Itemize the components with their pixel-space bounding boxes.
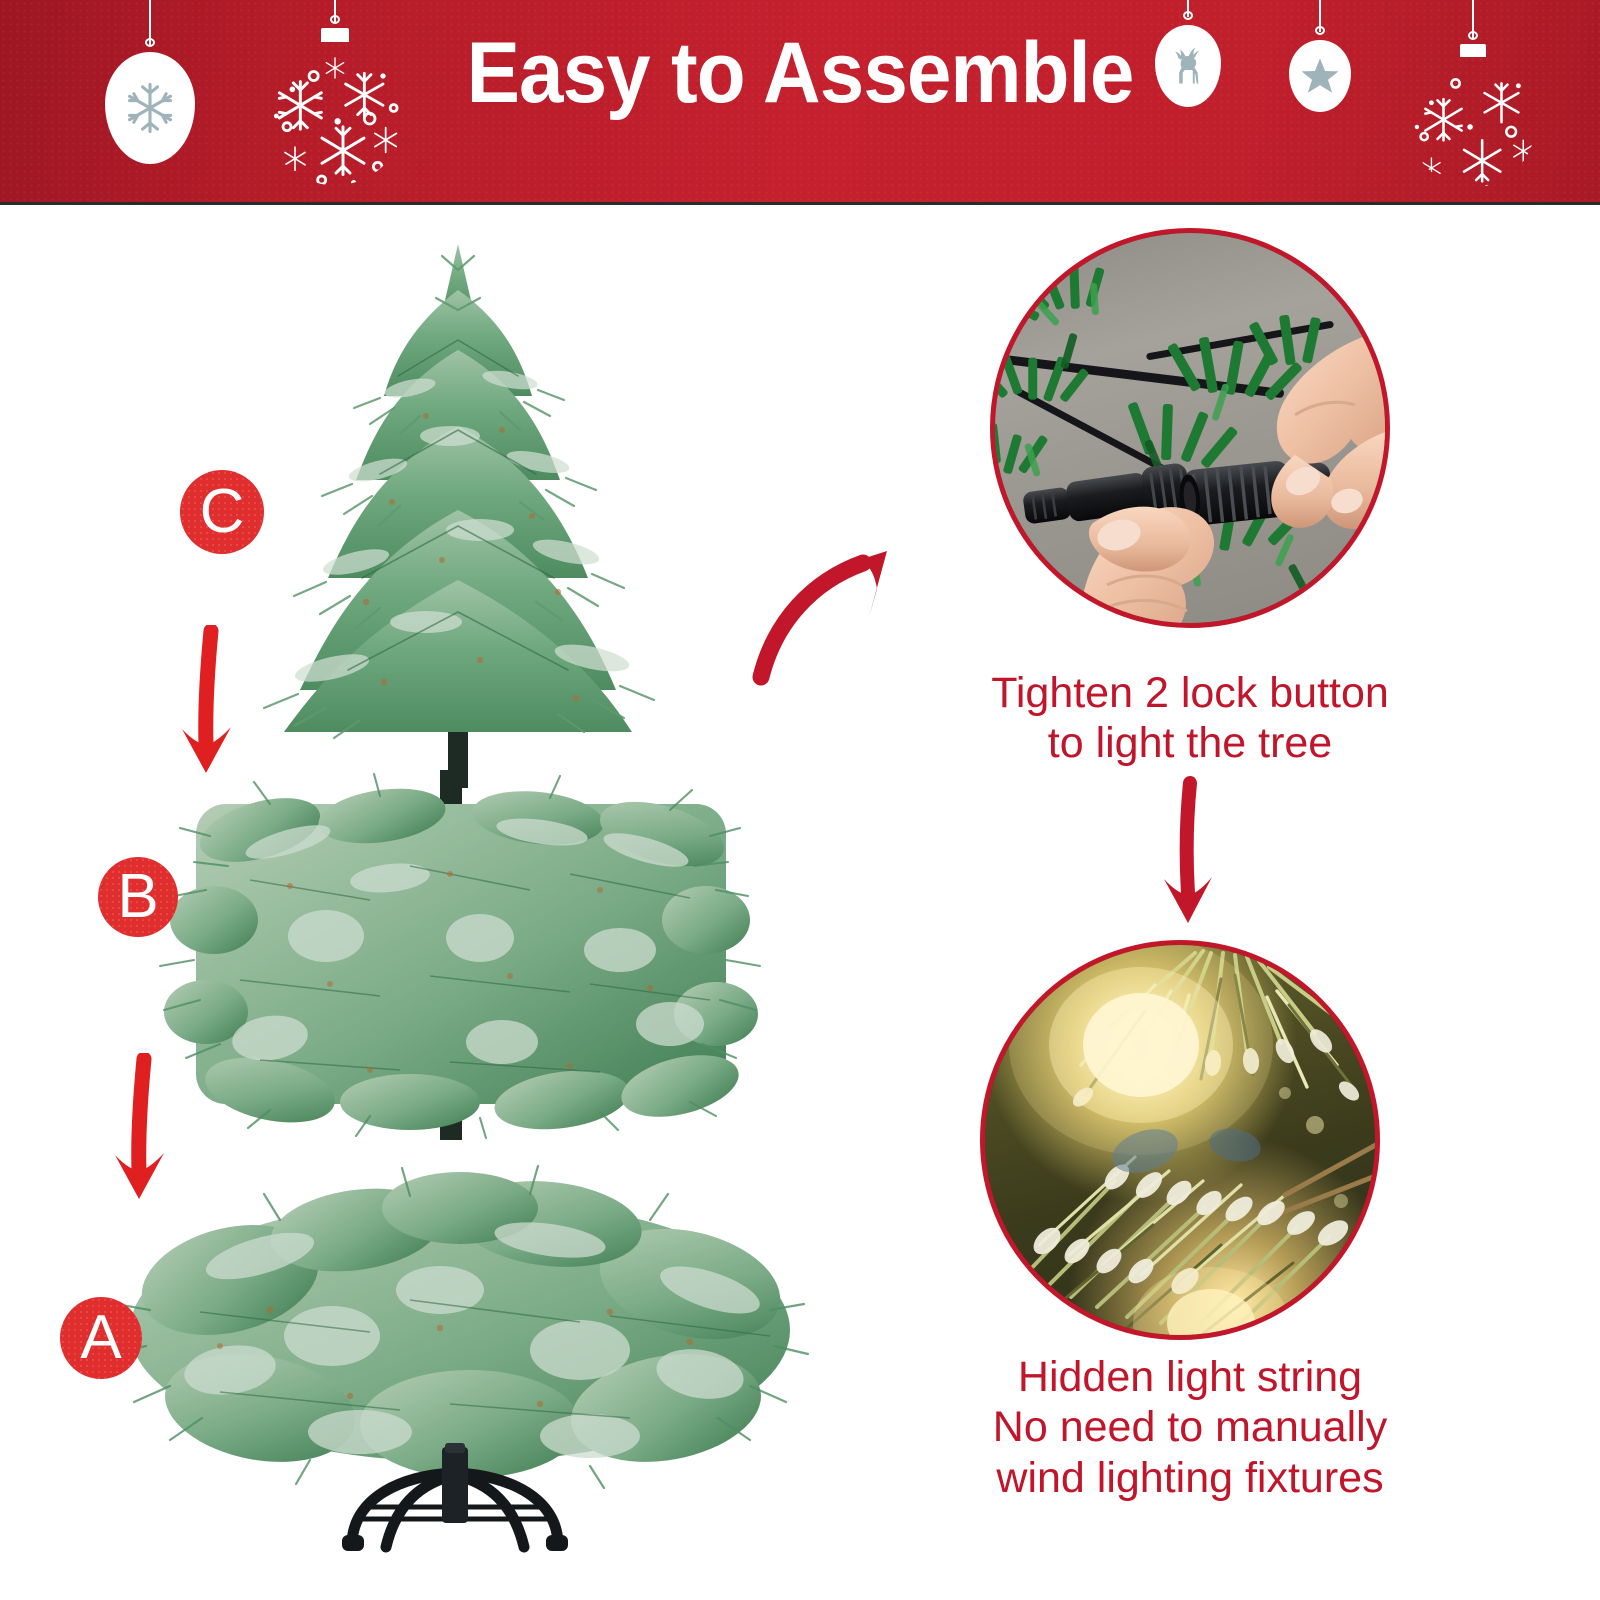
lights-caption-line3: wind lighting fixtures: [930, 1453, 1450, 1503]
light-bulb-glow: [1009, 945, 1348, 1340]
step-badge-c-label: C: [200, 481, 245, 543]
tree-stand: [300, 1435, 610, 1565]
step-badge-b-label: B: [117, 866, 158, 928]
header-banner: Easy to Assemble: [0, 0, 1600, 205]
step-badge-a: A: [60, 1297, 142, 1379]
lit-pine-needles: [985, 945, 1380, 1340]
ornament-cap-icon: [330, 15, 340, 24]
lit-branch-photo: [980, 940, 1380, 1340]
connector-caption-line2: to light the tree: [940, 718, 1440, 768]
hands: [995, 233, 1390, 628]
tree-section-top: [180, 230, 740, 790]
step-badge-b: B: [98, 857, 178, 937]
arrow-c-to-b: [165, 625, 255, 795]
step-badge-c: C: [180, 470, 264, 554]
lights-caption: Hidden light string No need to manually …: [930, 1352, 1450, 1503]
tree-section-middle: [150, 770, 770, 1140]
step-badge-a-label: A: [80, 1307, 121, 1369]
connector-caption-line1: Tighten 2 lock button: [940, 668, 1440, 718]
arrow-to-connector-photo: [735, 525, 935, 695]
page-title: Easy to Assemble: [56, 28, 1544, 118]
ornament-cap-icon: [1183, 11, 1193, 20]
arrow-connector-to-lights: [1120, 775, 1260, 935]
connector-photo: [990, 228, 1390, 628]
connector-caption: Tighten 2 lock button to light the tree: [940, 668, 1440, 769]
lights-caption-line2: No need to manually: [930, 1402, 1450, 1452]
assembly-diagram: C B A: [0, 205, 920, 1600]
arrow-b-to-a: [100, 1053, 190, 1223]
lights-caption-line1: Hidden light string: [930, 1352, 1450, 1402]
